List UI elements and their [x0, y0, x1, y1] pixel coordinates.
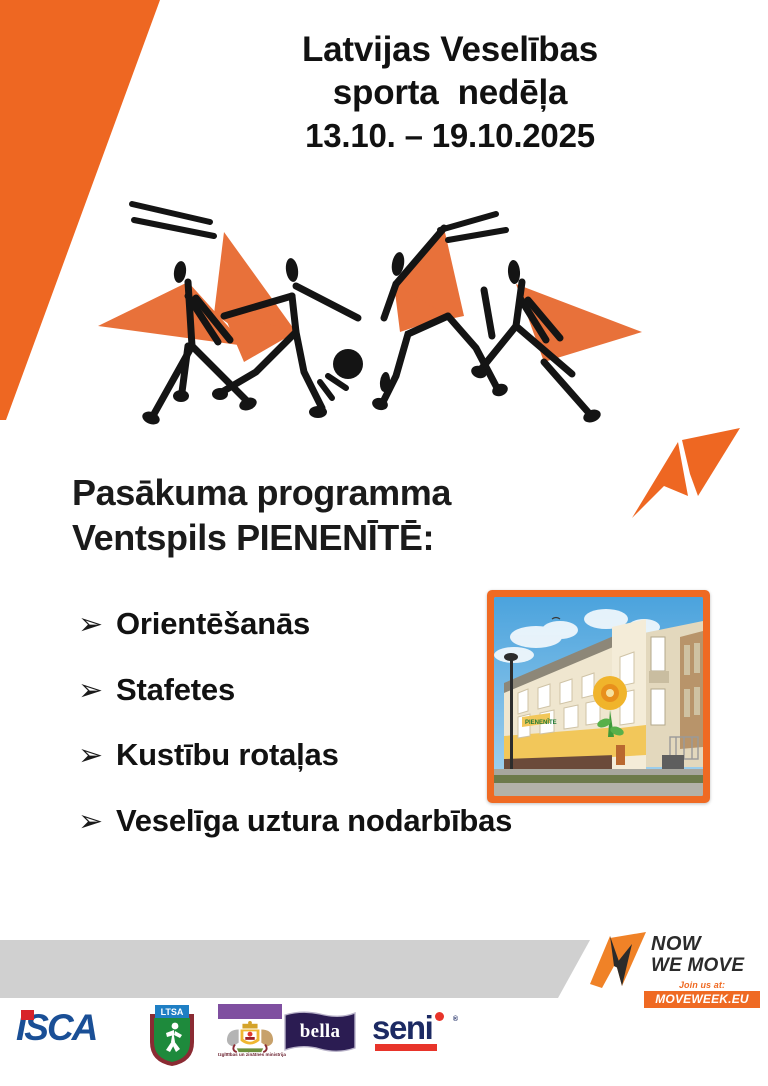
seni-wordmark: seni: [372, 1012, 458, 1044]
program-heading-line-2: Ventspils PIENENĪTĒ:: [72, 515, 672, 560]
now-we-move-logo-mark: [588, 930, 650, 992]
kindergarten-building-photo: PIENENĪTE: [494, 597, 703, 796]
isca-logo[interactable]: ISCA: [16, 1008, 126, 1054]
building-illustration: PIENENĪTE: [494, 597, 703, 796]
arrow-bullet-icon: ➢: [78, 610, 116, 640]
poster-title: Latvijas Veselības sporta nedēļa 13.10. …: [170, 28, 730, 158]
stick-figures-illustration: [96, 186, 648, 426]
nwm-url-badge[interactable]: MOVEWEEK.EU: [644, 991, 760, 1008]
list-item-label: Veselīga uztura nodarbības: [116, 805, 512, 838]
building-sign-text: PIENENĪTE: [525, 719, 557, 726]
nwm-join-label: Join us at:: [644, 980, 760, 990]
nwm-word-line-2: WE MOVE: [651, 955, 744, 976]
sponsor-logo-strip: ISCA LTSA: [0, 1000, 560, 1086]
now-we-move-wordmark: NOW WE MOVE: [651, 934, 744, 976]
seni-red-dot-icon: [435, 1012, 444, 1021]
title-line-1: Latvijas Veselības: [170, 28, 730, 71]
kindergarten-photo-frame: PIENENĪTE: [487, 590, 710, 803]
ministry-logo[interactable]: Izglītības un zinātnes ministrija: [212, 1002, 288, 1080]
ministry-purple-bar: [218, 1004, 282, 1019]
arrow-bullet-icon: ➢: [78, 807, 116, 837]
bella-logo[interactable]: bella: [282, 1010, 358, 1054]
poster-canvas: Latvijas Veselības sporta nedēļa 13.10. …: [0, 0, 768, 1086]
bella-wordmark: bella: [282, 1010, 358, 1054]
list-item-label: Orientēšanās: [116, 608, 310, 641]
latvia-coat-of-arms-icon: [214, 1020, 286, 1054]
ltsa-shield-icon: LTSA: [146, 1004, 198, 1068]
list-item-label: Kustību rotaļas: [116, 739, 339, 772]
title-line-2: sporta nedēļa: [170, 71, 730, 114]
arrow-bullet-icon: ➢: [78, 676, 116, 706]
seni-registered-mark: ®: [453, 1016, 458, 1023]
now-we-move-logo[interactable]: NOW WE MOVE Join us at: MOVEWEEK.EU: [588, 928, 760, 1010]
nwm-word-line-1: NOW: [651, 934, 744, 955]
seni-logo[interactable]: seni ®: [372, 1012, 458, 1052]
list-item: ➢ Veselīga uztura nodarbības: [78, 805, 698, 838]
program-heading: Pasākuma programma Ventspils PIENENĪTĒ:: [72, 470, 672, 560]
arrow-bullet-icon: ➢: [78, 741, 116, 771]
isca-red-dot-icon: [21, 1010, 34, 1020]
ltsa-logo[interactable]: LTSA: [146, 1004, 198, 1068]
ltsa-banner-text: LTSA: [161, 1007, 184, 1017]
program-heading-line-1: Pasākuma programma: [72, 470, 672, 515]
seni-red-bar: [375, 1044, 437, 1051]
list-item-label: Stafetes: [116, 674, 235, 707]
title-date-range: 13.10. – 19.10.2025: [170, 114, 730, 158]
